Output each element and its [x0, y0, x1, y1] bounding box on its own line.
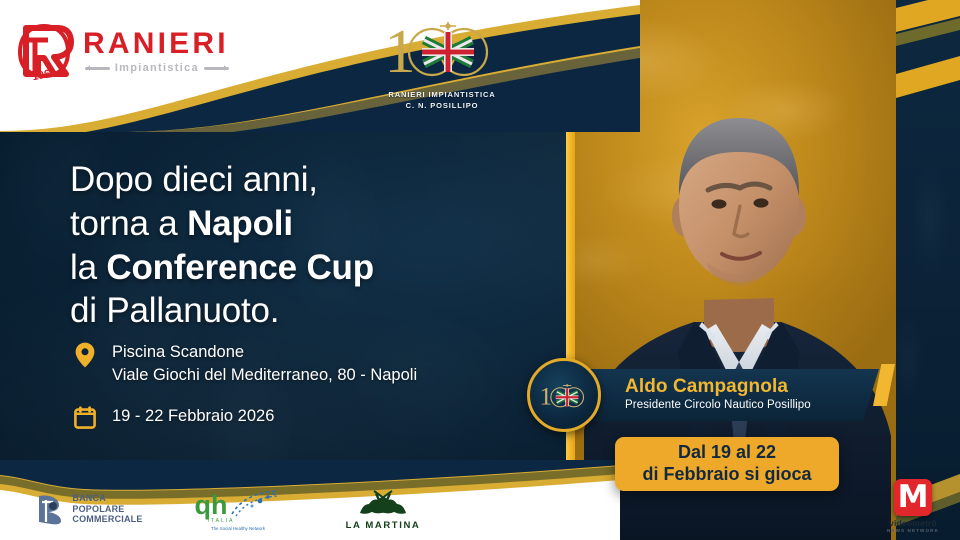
- tagline-rule-left: [85, 67, 110, 70]
- banca-line-3: COMMERCIALE: [72, 514, 142, 525]
- sponsor-qh-italia: qh ITALIA The Social Healthy Network: [168, 483, 308, 535]
- qh-swoosh-icon: [230, 488, 282, 518]
- videometro-logo: M videometrò NEWS NETWORK: [884, 479, 942, 533]
- badge-centenary-icon: 1: [527, 358, 601, 432]
- speaker-role: Presidente Circolo Nautico Posillipo: [625, 399, 879, 413]
- headline-line-2-plain: torna a: [70, 204, 187, 243]
- la-martina-polo-icon: [352, 487, 414, 519]
- speaker-name-plate: Aldo Campagnola Presidente Circolo Nauti…: [581, 369, 879, 421]
- svg-text:1: 1: [385, 18, 416, 82]
- venue-row: Piscina Scandone Viale Giochi del Medite…: [72, 340, 542, 388]
- date-text: 19 - 22 Febbraio 2026: [112, 404, 274, 428]
- centenary-mark-icon: 1: [378, 16, 506, 82]
- ranieri-name: RANIERI: [83, 29, 229, 59]
- videometro-mark: M: [898, 485, 929, 510]
- svg-text:1: 1: [540, 383, 553, 411]
- sponsor-row: BANCA POPOLARE COMMERCIALE qh: [0, 478, 566, 540]
- centenary-line-2: C. N. POSILLIPO: [378, 101, 506, 112]
- videometro-name: videometrò: [884, 518, 942, 528]
- centenary-logo: 1 RANIERI IMPIANTISTICA C. N. POSILLIPO: [378, 16, 506, 112]
- ranieri-mark-icon: 1961: [14, 22, 74, 80]
- ranieri-logo: 1961 RANIERI Impiantistica: [14, 22, 229, 80]
- location-pin-icon: [72, 340, 98, 368]
- speaker-badge: 1 Aldo Campagnola Presidente Circolo Nau…: [527, 358, 879, 432]
- headline-line-4: di Pallanuoto.: [70, 289, 540, 333]
- poster-canvas: 1961 RANIERI Impiantistica 1: [0, 0, 960, 540]
- ranieri-tagline: Impiantistica: [115, 63, 199, 74]
- calendar-icon: [72, 404, 98, 429]
- sponsor-la-martina: LA MARTINA: [308, 483, 458, 535]
- la-martina-label: LA MARTINA: [346, 520, 421, 531]
- cta-line-2: di Febbraio si gioca: [642, 464, 811, 486]
- date-row: 19 - 22 Febbraio 2026: [72, 404, 542, 429]
- headline-napoli: Napoli: [187, 204, 293, 243]
- ranieri-tagline-row: Impiantistica: [83, 63, 229, 74]
- ranieri-wordmark: RANIERI Impiantistica: [83, 29, 229, 74]
- banca-popolare-wordmark: BANCA POPOLARE COMMERCIALE: [72, 493, 142, 526]
- venue-address: Viale Giochi del Mediterraneo, 80 - Napo…: [112, 364, 417, 387]
- videometro-m-icon: M: [894, 479, 932, 516]
- event-details: Piscina Scandone Viale Giochi del Medite…: [72, 340, 542, 445]
- banca-line-1: BANCA: [72, 493, 142, 504]
- banca-popolare-icon: [33, 492, 67, 526]
- sponsor-banca-popolare-commerciale: BANCA POPOLARE COMMERCIALE: [8, 483, 168, 535]
- headline-conference-cup: Conference Cup: [106, 248, 374, 287]
- speaker-name: Aldo Campagnola: [625, 377, 879, 397]
- qh-sub: ITALIA: [208, 518, 235, 524]
- tagline-rule-right: [204, 67, 229, 70]
- venue-text: Piscina Scandone Viale Giochi del Medite…: [112, 340, 417, 388]
- headline: Dopo dieci anni, torna a Napoli la Confe…: [70, 158, 540, 333]
- qh-tagline: The Social Healthy Network: [211, 526, 265, 531]
- qh-mark: qh: [195, 493, 228, 517]
- cta-banner[interactable]: Dal 19 al 22 di Febbraio si gioca: [615, 437, 839, 491]
- right-strip-ribbons: [896, 0, 960, 540]
- headline-line-1: Dopo dieci anni,: [70, 158, 540, 202]
- cta-line-1: Dal 19 al 22: [678, 442, 776, 464]
- content-panel: 1961 RANIERI Impiantistica 1: [0, 0, 566, 540]
- headline-line-3-plain: la: [70, 248, 106, 287]
- videometro-tagline: NEWS NETWORK: [884, 528, 942, 533]
- centenary-line-1: RANIERI IMPIANTISTICA: [378, 90, 506, 101]
- headline-line-2: torna a Napoli: [70, 202, 540, 246]
- centenary-caption: RANIERI IMPIANTISTICA C. N. POSILLIPO: [378, 90, 506, 112]
- headline-line-3: la Conference Cup: [70, 246, 540, 290]
- right-edge-strip: [896, 0, 960, 540]
- banca-line-2: POPOLARE: [72, 504, 142, 515]
- venue-name: Piscina Scandone: [112, 341, 417, 364]
